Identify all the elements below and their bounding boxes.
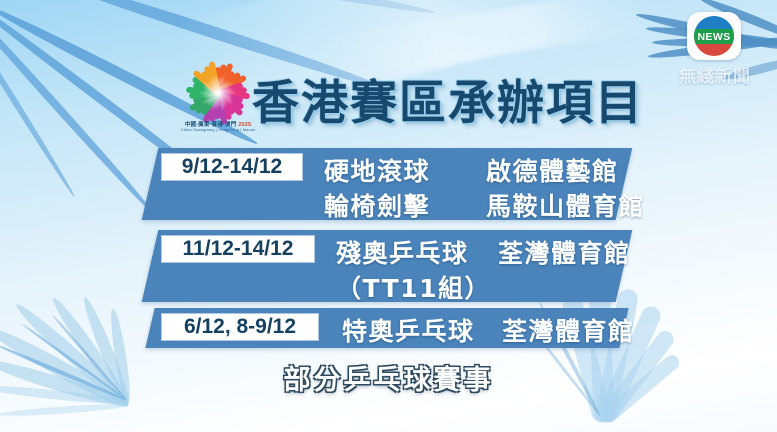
schedule-row: 6/12, 8-9/12 特奧乒乓球 荃灣體育館 [145,308,628,348]
event-name: 輪椅劍擊 [324,187,430,223]
news-disc: NEWS [694,16,734,56]
logo-wordmark: 中國·廣東·香港·澳門 2025 China Guangdong | Hong … [172,122,264,133]
broadcaster-name: 無綫新聞 [661,62,769,87]
venue-name: 荃灣體育館 [502,312,635,348]
venue-name: 馬鞍山體育館 [486,187,645,223]
event-name: （TT11組） [336,269,491,305]
header: 中國·廣東·香港·澳門 2025 China Guangdong | Hong … [0,46,660,142]
date-badge-text: 9/12-14/12 [182,155,282,179]
date-badge-text: 11/12-14/12 [183,237,294,261]
date-badge: 6/12, 8-9/12 [162,314,318,340]
event-name: 硬地滾球 [324,152,430,188]
date-badge-text: 6/12, 8-9/12 [184,315,296,339]
broadcaster-logo: NEWS 無綫新聞 [661,12,769,84]
schedule-row: 9/12-14/12 硬地滾球 啟德體藝館 輪椅劍擊 馬鞍山體育館 [142,148,633,220]
national-games-logo: 中國·廣東·香港·澳門 2025 China Guangdong | Hong … [172,56,264,148]
petal-decoration [589,282,615,423]
caption: 部分乒乓球賽事 [0,358,777,397]
event-name: 殘奧乒乓球 [336,234,469,270]
date-badge: 11/12-14/12 [162,236,314,262]
schedule-row: 11/12-14/12 殘奧乒乓球 荃灣體育館 （TT11組） [142,230,633,302]
logo-burst-icon [184,56,252,124]
petal-decoration [0,402,128,418]
news-label: NEWS [697,31,730,43]
venue-name: 啟德體藝館 [486,152,619,188]
logo-wordmark-en: China Guangdong | Hong Kong | Macao [172,128,264,133]
ray-decoration [109,0,436,17]
event-name: 特奧乒乓球 [342,312,475,348]
broadcast-graphic: 中國·廣東·香港·澳門 2025 China Guangdong | Hong … [0,0,777,432]
news-band: NEWS [694,29,734,44]
news-logo-icon: NEWS [687,12,741,60]
venue-name: 荃灣體育館 [498,234,631,270]
page-title: 香港賽區承辦項目 [252,64,644,133]
date-badge: 9/12-14/12 [162,154,302,180]
